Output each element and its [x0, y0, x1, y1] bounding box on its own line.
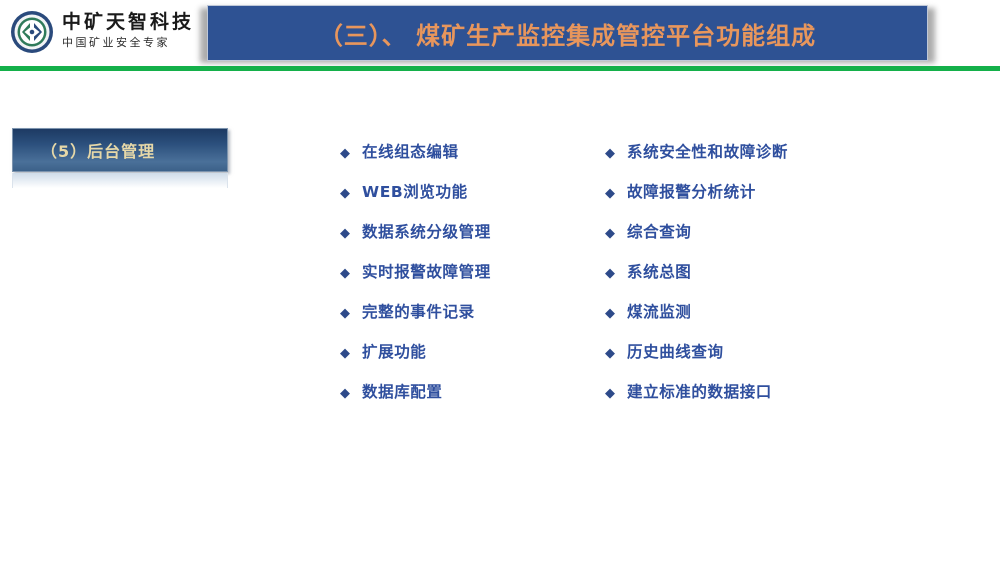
brand-name: 中矿天智科技: [62, 12, 194, 34]
feature-list: ◆在线组态编辑◆WEB浏览功能◆数据系统分级管理◆实时报警故障管理◆完整的事件记…: [340, 140, 960, 420]
diamond-bullet-icon: ◆: [340, 147, 350, 160]
diamond-bullet-icon: ◆: [605, 347, 615, 360]
list-item[interactable]: ◆数据系统分级管理: [340, 220, 605, 260]
feature-column-left: ◆在线组态编辑◆WEB浏览功能◆数据系统分级管理◆实时报警故障管理◆完整的事件记…: [340, 140, 605, 420]
brand-header: 中矿天智科技 中国矿业安全专家: [10, 4, 200, 60]
list-item[interactable]: ◆煤流监测: [605, 300, 905, 340]
diamond-bullet-icon: ◆: [340, 267, 350, 280]
list-item-label: 历史曲线查询: [627, 340, 724, 362]
list-item-label: 数据系统分级管理: [362, 220, 491, 242]
list-item-label: 数据库配置: [362, 380, 443, 402]
list-item[interactable]: ◆在线组态编辑: [340, 140, 605, 180]
brand-text-block: 中矿天智科技 中国矿业安全专家: [62, 12, 194, 51]
list-item-label: 煤流监测: [627, 300, 691, 322]
list-item-label: 系统安全性和故障诊断: [627, 140, 788, 162]
list-item[interactable]: ◆数据库配置: [340, 380, 605, 420]
diamond-bullet-icon: ◆: [340, 187, 350, 200]
list-item[interactable]: ◆故障报警分析统计: [605, 180, 905, 220]
list-item-label: 完整的事件记录: [362, 300, 475, 322]
diamond-bullet-icon: ◆: [340, 307, 350, 320]
list-item-label: 实时报警故障管理: [362, 260, 491, 282]
list-item-label: WEB浏览功能: [362, 180, 468, 202]
list-item[interactable]: ◆扩展功能: [340, 340, 605, 380]
diamond-bullet-icon: ◆: [605, 147, 615, 160]
diamond-bullet-icon: ◆: [340, 227, 350, 240]
list-item[interactable]: ◆历史曲线查询: [605, 340, 905, 380]
header-divider: [0, 66, 1000, 71]
diamond-bullet-icon: ◆: [340, 347, 350, 360]
list-item-label: 建立标准的数据接口: [627, 380, 772, 402]
section-header-label: （5）后台管理: [41, 138, 155, 162]
list-item[interactable]: ◆系统安全性和故障诊断: [605, 140, 905, 180]
page-title: （三）、 煤矿生产监控集成管控平台功能组成: [319, 16, 816, 51]
list-item[interactable]: ◆完整的事件记录: [340, 300, 605, 340]
section-header-box: （5）后台管理: [12, 128, 228, 172]
list-item[interactable]: ◆系统总图: [605, 260, 905, 300]
diamond-bullet-icon: ◆: [605, 267, 615, 280]
list-item[interactable]: ◆WEB浏览功能: [340, 180, 605, 220]
list-item-label: 故障报警分析统计: [627, 180, 756, 202]
diamond-bullet-icon: ◆: [605, 307, 615, 320]
section-header: （5）后台管理: [12, 128, 228, 172]
list-item[interactable]: ◆综合查询: [605, 220, 905, 260]
list-item-label: 综合查询: [627, 220, 691, 242]
diamond-bullet-icon: ◆: [340, 387, 350, 400]
brand-tagline: 中国矿业安全专家: [62, 34, 194, 52]
list-item-label: 扩展功能: [362, 340, 426, 362]
diamond-bullet-icon: ◆: [605, 387, 615, 400]
list-item-label: 系统总图: [627, 260, 691, 282]
list-item-label: 在线组态编辑: [362, 140, 459, 162]
list-item[interactable]: ◆建立标准的数据接口: [605, 380, 905, 420]
list-item[interactable]: ◆实时报警故障管理: [340, 260, 605, 300]
slide-title-bar: （三）、 煤矿生产监控集成管控平台功能组成: [207, 5, 928, 61]
diamond-bullet-icon: ◆: [605, 187, 615, 200]
company-emblem-icon: [10, 10, 54, 54]
diamond-bullet-icon: ◆: [605, 227, 615, 240]
section-header-reflection: [12, 173, 228, 188]
feature-column-right: ◆系统安全性和故障诊断◆故障报警分析统计◆综合查询◆系统总图◆煤流监测◆历史曲线…: [605, 140, 905, 420]
